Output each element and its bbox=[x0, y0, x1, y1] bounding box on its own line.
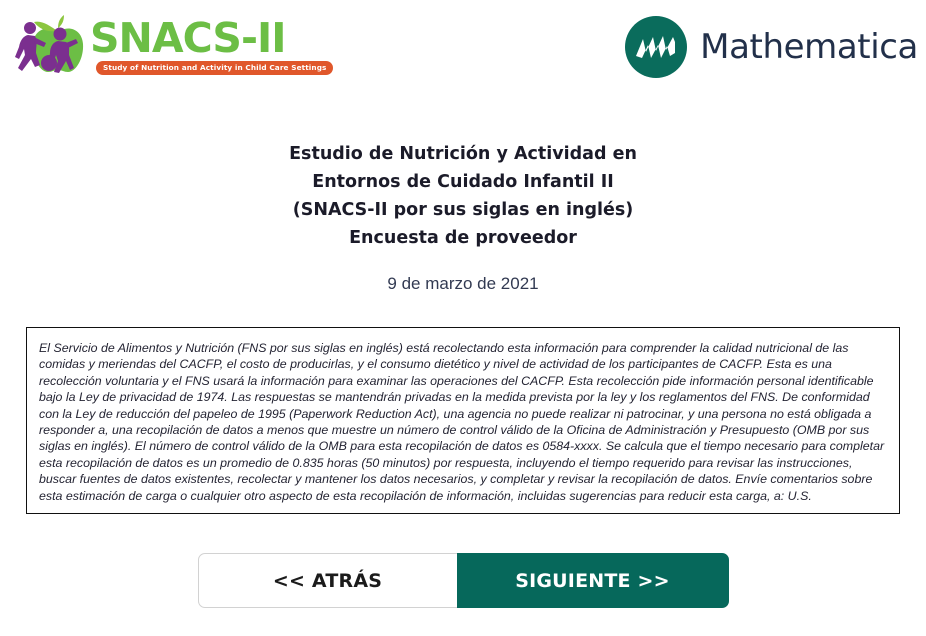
snacs-logo-artwork bbox=[12, 14, 94, 76]
snacs-wordmark: SNACS-II bbox=[90, 18, 285, 59]
mathematica-logo: Mathematica bbox=[625, 16, 918, 78]
snacs-tagline: Study of Nutrition and Activity in Child… bbox=[96, 61, 333, 75]
page-header: SNACS-II Study of Nutrition and Activity… bbox=[0, 0, 926, 96]
ball-icon bbox=[41, 55, 57, 71]
mathematica-mark-icon bbox=[625, 16, 687, 78]
title-line-1: Estudio de Nutrición y Actividad en bbox=[0, 140, 926, 168]
privacy-burden-notice-box: El Servicio de Alimentos y Nutrición (FN… bbox=[26, 327, 900, 514]
mathematica-wordmark: Mathematica bbox=[700, 30, 918, 64]
title-line-2: Entornos de Cuidado Infantil II bbox=[0, 168, 926, 196]
zigzag-m-icon bbox=[634, 32, 678, 62]
page-title: Estudio de Nutrición y Actividad en Ento… bbox=[0, 140, 926, 252]
privacy-burden-notice-text: El Servicio de Alimentos y Nutrición (FN… bbox=[39, 340, 886, 504]
next-button[interactable]: SIGUIENTE >> bbox=[457, 553, 729, 608]
title-line-4: Encuesta de proveedor bbox=[0, 224, 926, 252]
navigation-button-bar: << ATRÁS SIGUIENTE >> bbox=[0, 553, 926, 608]
snacs-logo: SNACS-II Study of Nutrition and Activity… bbox=[12, 14, 294, 82]
title-line-3: (SNACS-II por sus siglas en inglés) bbox=[0, 196, 926, 224]
document-date: 9 de marzo de 2021 bbox=[0, 274, 926, 294]
back-button[interactable]: << ATRÁS bbox=[198, 553, 458, 608]
